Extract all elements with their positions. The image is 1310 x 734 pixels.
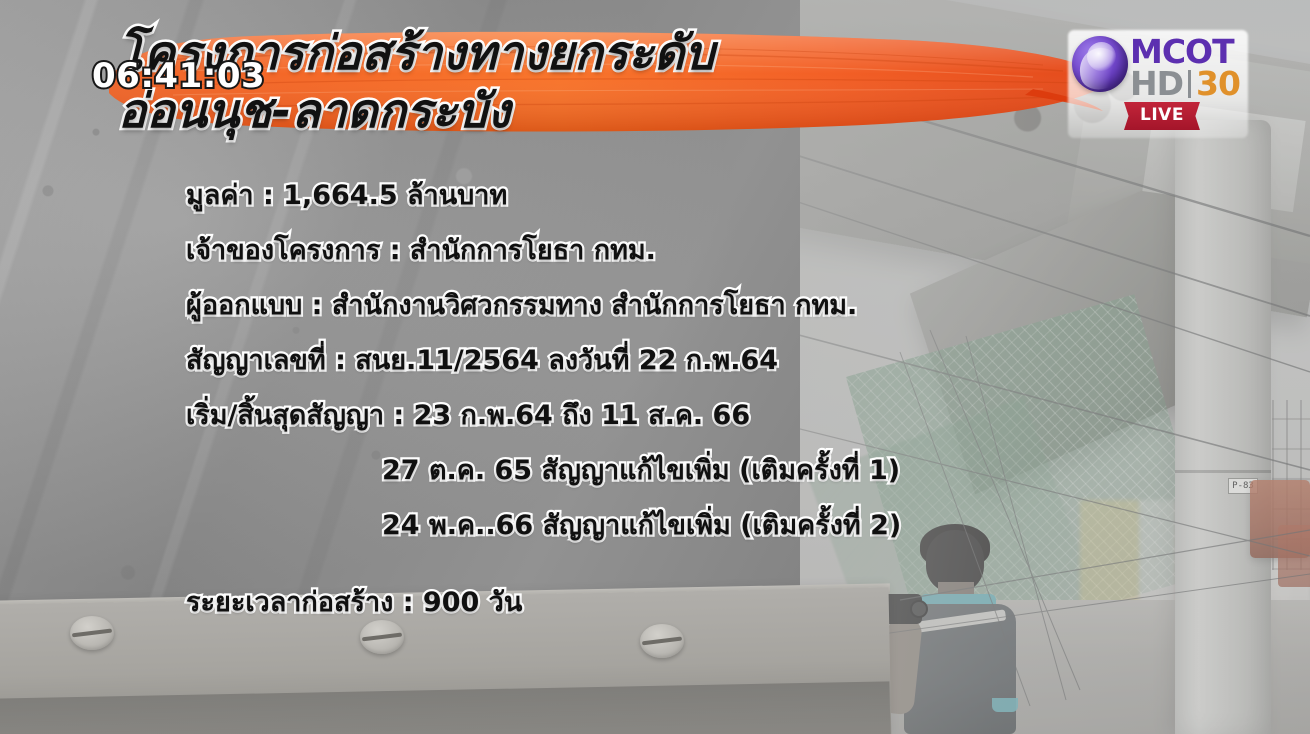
detail-line-duration: ระยะเวลาก่อสร้าง : 900 วัน xyxy=(186,575,1086,630)
detail-line-amendment-2: 24 พ.ค..66 สัญญาแก้ไขเพิ่ม (เติมครั้งที่… xyxy=(186,498,1086,553)
barrier-bolt-cap xyxy=(70,616,114,650)
channel-quality-row: HD 30 xyxy=(1130,66,1240,102)
sphere-highlight xyxy=(1087,42,1116,71)
detail-line-contract-no: สัญญาเลขที่ : สนย.11/2564 ลงวันที่ 22 ก.… xyxy=(186,333,1086,388)
detail-line-owner: เจ้าของโครงการ : สำนักการโยธา กทม. xyxy=(186,223,1086,278)
mcot-sphere-icon xyxy=(1072,36,1128,92)
detail-line-contract-period: เริ่ม/สิ้นสุดสัญญา : 23 ก.พ.64 ถึง 11 ส.… xyxy=(186,388,1086,443)
detail-line-amendment-1: 27 ต.ค. 65 สัญญาแก้ไขเพิ่ม (เติมครั้งที่… xyxy=(186,443,1086,498)
broadcast-screen: P-83 xyxy=(0,0,1310,734)
channel-number: 30 xyxy=(1196,66,1240,102)
project-details-list: มูลค่า : 1,664.5 ล้านบาท เจ้าของโครงการ … xyxy=(186,168,1086,630)
detail-line-designer: ผู้ออกแบบ : สำนักงานวิศวกรรมทาง สำนักการ… xyxy=(186,278,1086,333)
live-badge: LIVE xyxy=(1124,102,1200,130)
channel-logo: MCOT HD 30 LIVE xyxy=(1068,30,1248,138)
broadcast-timestamp: 06:41:03 xyxy=(92,56,265,96)
channel-quality: HD xyxy=(1130,66,1183,102)
detail-line-value: มูลค่า : 1,664.5 ล้านบาท xyxy=(186,168,1086,223)
logo-divider xyxy=(1188,70,1191,98)
